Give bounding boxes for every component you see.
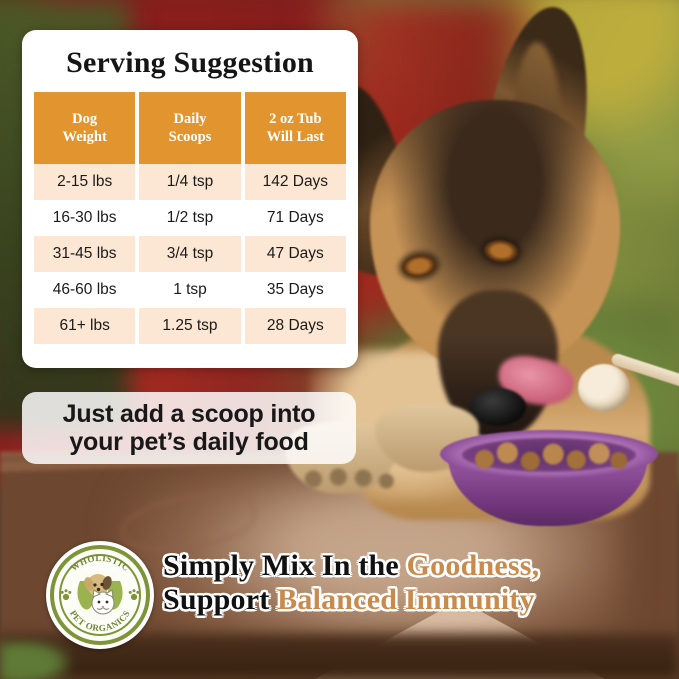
cell-daily-scoops: 1/2 tsp: [139, 200, 240, 236]
tagline-line-2: Support Balanced Immunity: [163, 583, 671, 617]
cell-tub-will-last: 28 Days: [245, 308, 346, 344]
header-line-1: Daily: [173, 111, 206, 127]
cell-tub-will-last: 47 Days: [245, 236, 346, 272]
tagline-plain-2: Support: [163, 583, 277, 616]
dog-paw-toes: [298, 466, 394, 492]
callout-line-1: Just add a scoop into: [63, 400, 316, 428]
table-header-row: Dog Weight Daily Scoops 2 oz Tub Will La…: [34, 92, 346, 164]
tagline-highlight-1: Goodness,: [407, 549, 540, 582]
serving-suggestion-table: Dog Weight Daily Scoops 2 oz Tub Will La…: [30, 92, 350, 344]
cell-daily-scoops: 1.25 tsp: [139, 308, 240, 344]
cell-daily-scoops: 1 tsp: [139, 272, 240, 308]
table-row: 31-45 lbs 3/4 tsp 47 Days: [34, 236, 346, 272]
header-line-2: Weight: [63, 129, 107, 145]
kibble-pieces: [468, 440, 632, 472]
brand-logo: WHOLISTIC PET ORGANICS: [46, 541, 154, 649]
cell-daily-scoops: 1/4 tsp: [139, 164, 240, 200]
callout-text: Just add a scoop into your pet’s daily f…: [63, 400, 316, 456]
header-line-2: Scoops: [169, 129, 212, 145]
tagline-highlight-2: Balanced Immunity: [277, 583, 535, 616]
table-row: 46-60 lbs 1 tsp 35 Days: [34, 272, 346, 308]
cell-dog-weight: 46-60 lbs: [34, 272, 135, 308]
cell-dog-weight: 16-30 lbs: [34, 200, 135, 236]
marketing-tagline: Simply Mix In the Goodness, Support Bala…: [163, 549, 671, 617]
cell-tub-will-last: 35 Days: [245, 272, 346, 308]
table-body: 2-15 lbs 1/4 tsp 142 Days 16-30 lbs 1/2 …: [34, 164, 346, 344]
logo-artwork: WHOLISTIC PET ORGANICS: [46, 541, 154, 649]
callout-line-2: your pet’s daily food: [69, 428, 308, 456]
cell-tub-will-last: 71 Days: [245, 200, 346, 236]
header-line-1: 2 oz Tub: [269, 111, 321, 127]
serving-suggestion-card: Serving Suggestion Dog Weight Daily Scoo…: [22, 30, 358, 368]
dog-nose: [470, 388, 526, 426]
paw-print-icon-left: [61, 589, 72, 600]
table-head: Dog Weight Daily Scoops 2 oz Tub Will La…: [34, 92, 346, 164]
cell-dog-weight: 61+ lbs: [34, 308, 135, 344]
cell-dog-weight: 2-15 lbs: [34, 164, 135, 200]
table-row: 16-30 lbs 1/2 tsp 71 Days: [34, 200, 346, 236]
header-line-2: Will Last: [267, 129, 324, 145]
column-header-dog-weight: Dog Weight: [34, 92, 135, 164]
paw-print-icon-right: [129, 589, 140, 600]
column-header-tub-will-last: 2 oz Tub Will Last: [245, 92, 346, 164]
tagline-line-1: Simply Mix In the Goodness,: [163, 549, 539, 582]
card-title: Serving Suggestion: [22, 46, 358, 80]
scoop-with-powder: [578, 364, 630, 412]
table-row: 61+ lbs 1.25 tsp 28 Days: [34, 308, 346, 344]
product-infographic: Serving Suggestion Dog Weight Daily Scoo…: [0, 0, 679, 679]
dog-food-bowl: [440, 430, 658, 526]
usage-callout: Just add a scoop into your pet’s daily f…: [22, 392, 356, 464]
cell-daily-scoops: 3/4 tsp: [139, 236, 240, 272]
dog-cat-illustration-icon: [75, 570, 125, 620]
table-row: 2-15 lbs 1/4 tsp 142 Days: [34, 164, 346, 200]
cell-dog-weight: 31-45 lbs: [34, 236, 135, 272]
column-header-daily-scoops: Daily Scoops: [139, 92, 240, 164]
tagline-plain-1: Simply Mix In the: [163, 549, 407, 582]
cell-tub-will-last: 142 Days: [245, 164, 346, 200]
header-line-1: Dog: [72, 111, 97, 127]
